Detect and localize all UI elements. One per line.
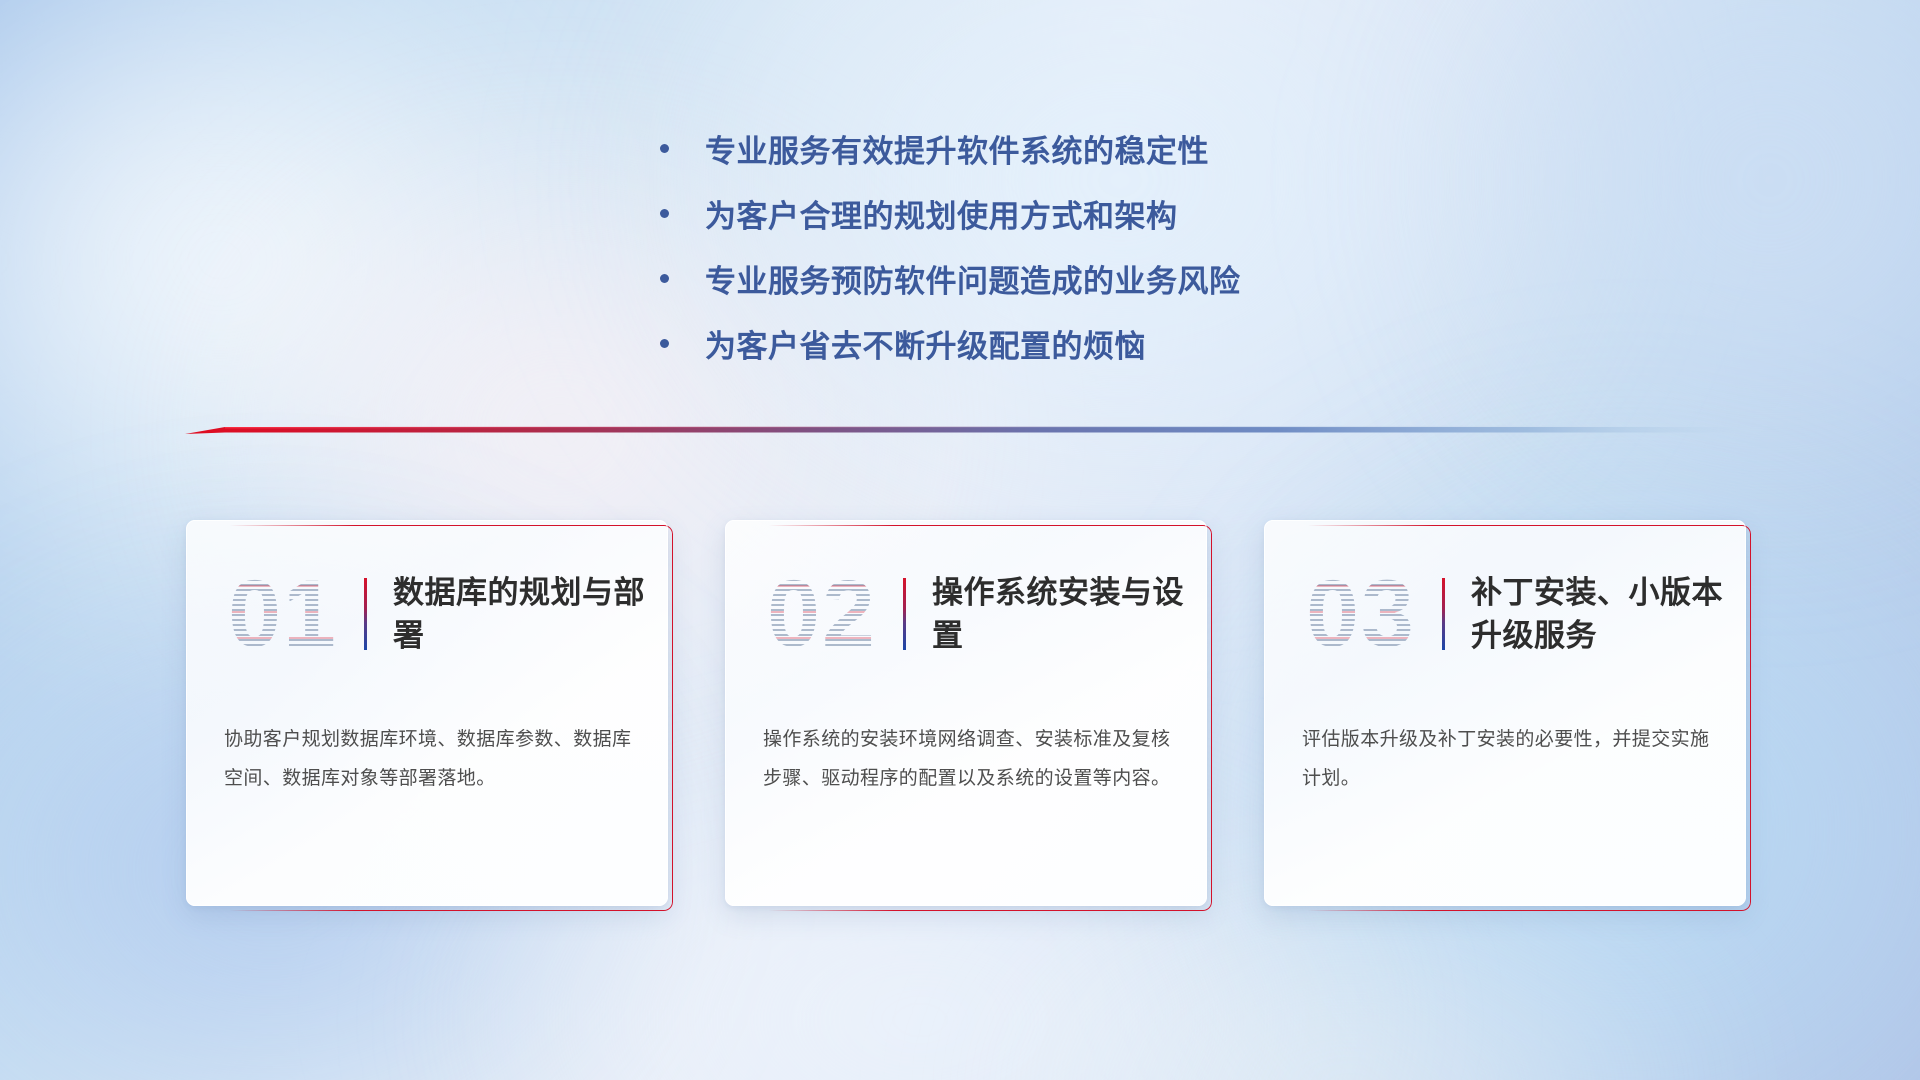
service-card[interactable]: 02 02 操作系统安装与设置 操作系统的安装环境网络调查、安装标准及复核步骤、…	[725, 520, 1207, 906]
card-number-watermark: 01 01	[208, 559, 358, 669]
bullet-text: 专业服务预防软件问题造成的业务风险	[705, 256, 1241, 301]
service-card[interactable]: 01 01 数据库的规划与部署 协助客户规划数据库环境、数据库参数、数据库空间、…	[186, 520, 668, 906]
list-item: 为客户省去不断升级配置的烦恼	[660, 311, 1241, 376]
card-number-watermark: 02 02	[747, 559, 897, 669]
card-header: 02 02 操作系统安装与设置	[725, 558, 1207, 670]
card-body-text: 协助客户规划数据库环境、数据库参数、数据库空间、数据库对象等部署落地。	[224, 720, 638, 798]
tapered-gradient-rule-icon	[185, 420, 1745, 442]
list-item: 专业服务预防软件问题造成的业务风险	[660, 246, 1241, 311]
bullet-dot-icon	[660, 339, 669, 348]
card-title: 数据库的规划与部署	[393, 571, 668, 657]
card-body-text: 评估版本升级及补丁安装的必要性，并提交实施计划。	[1302, 720, 1716, 798]
card-divider-bar-icon	[1442, 578, 1445, 650]
card-divider-bar-icon	[364, 578, 367, 650]
bullet-text: 为客户合理的规划使用方式和架构	[705, 191, 1178, 236]
list-item: 专业服务有效提升软件系统的稳定性	[660, 116, 1241, 181]
bullet-dot-icon	[660, 274, 669, 283]
card-divider-bar-icon	[903, 578, 906, 650]
card-header: 03 03 补丁安装、小版本升级服务	[1264, 558, 1746, 670]
service-card[interactable]: 03 03 补丁安装、小版本升级服务 评估版本升级及补丁安装的必要性，并提交实施…	[1264, 520, 1746, 906]
card-number-red-stripes: 03	[1286, 559, 1436, 669]
bullet-text: 为客户省去不断升级配置的烦恼	[705, 321, 1146, 366]
list-item: 为客户合理的规划使用方式和架构	[660, 181, 1241, 246]
card-number-watermark: 03 03	[1286, 559, 1436, 669]
card-title: 操作系统安装与设置	[932, 571, 1207, 657]
card-header: 01 01 数据库的规划与部署	[186, 558, 668, 670]
card-number-red-stripes: 01	[208, 559, 358, 669]
service-cards: 01 01 数据库的规划与部署 协助客户规划数据库环境、数据库参数、数据库空间、…	[186, 520, 1746, 920]
section-divider	[185, 420, 1745, 442]
card-number-red-stripes: 02	[747, 559, 897, 669]
bullet-dot-icon	[660, 144, 669, 153]
bullet-dot-icon	[660, 209, 669, 218]
card-title: 补丁安装、小版本升级服务	[1471, 571, 1746, 657]
benefits-bullet-list: 专业服务有效提升软件系统的稳定性 为客户合理的规划使用方式和架构 专业服务预防软…	[660, 116, 1241, 376]
card-body-text: 操作系统的安装环境网络调查、安装标准及复核步骤、驱动程序的配置以及系统的设置等内…	[763, 720, 1177, 798]
bullet-text: 专业服务有效提升软件系统的稳定性	[705, 126, 1209, 171]
